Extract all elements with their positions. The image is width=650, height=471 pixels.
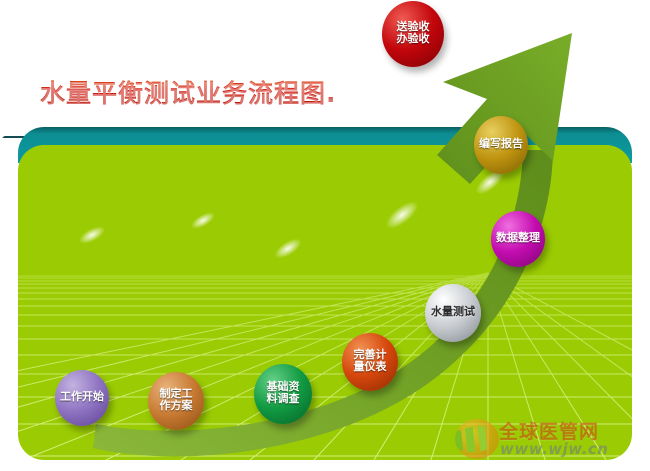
flow-node-work-start[interactable]: 工作开始 xyxy=(55,370,109,426)
flow-node-label: 水量测试 xyxy=(431,306,475,318)
flow-node-data-processing[interactable]: 数据整理 xyxy=(491,211,545,267)
flow-node-basic-survey[interactable]: 基础资 料调查 xyxy=(254,364,312,424)
flow-node-label: 完善计 量仪表 xyxy=(354,349,387,373)
flow-node-make-plan[interactable]: 制定工 作方案 xyxy=(148,372,204,430)
flow-node-improve-meters[interactable]: 完善计 量仪表 xyxy=(342,333,398,391)
flow-node-label: 工作开始 xyxy=(60,391,104,403)
flow-node-label: 送验收 办验收 xyxy=(397,21,430,45)
flow-node-label: 编写报告 xyxy=(479,138,523,150)
flow-node-write-report[interactable]: 编写报告 xyxy=(474,116,528,174)
flowchart-canvas: 工作开始制定工 作方案基础资 料调查完善计 量仪表水量测试数据整理编写报告送验收… xyxy=(0,0,650,471)
flow-node-water-test[interactable]: 水量测试 xyxy=(425,284,481,342)
flow-node-label: 制定工 作方案 xyxy=(160,388,193,412)
perspective-grid-floor xyxy=(18,145,632,460)
flow-node-label: 数据整理 xyxy=(496,232,540,244)
main-green-panel xyxy=(18,145,632,460)
flow-node-acceptance[interactable]: 送验收 办验收 xyxy=(382,1,444,67)
flow-node-label: 基础资 料调查 xyxy=(267,381,300,405)
page-title: 水量平衡测试业务流程图. xyxy=(40,74,337,110)
